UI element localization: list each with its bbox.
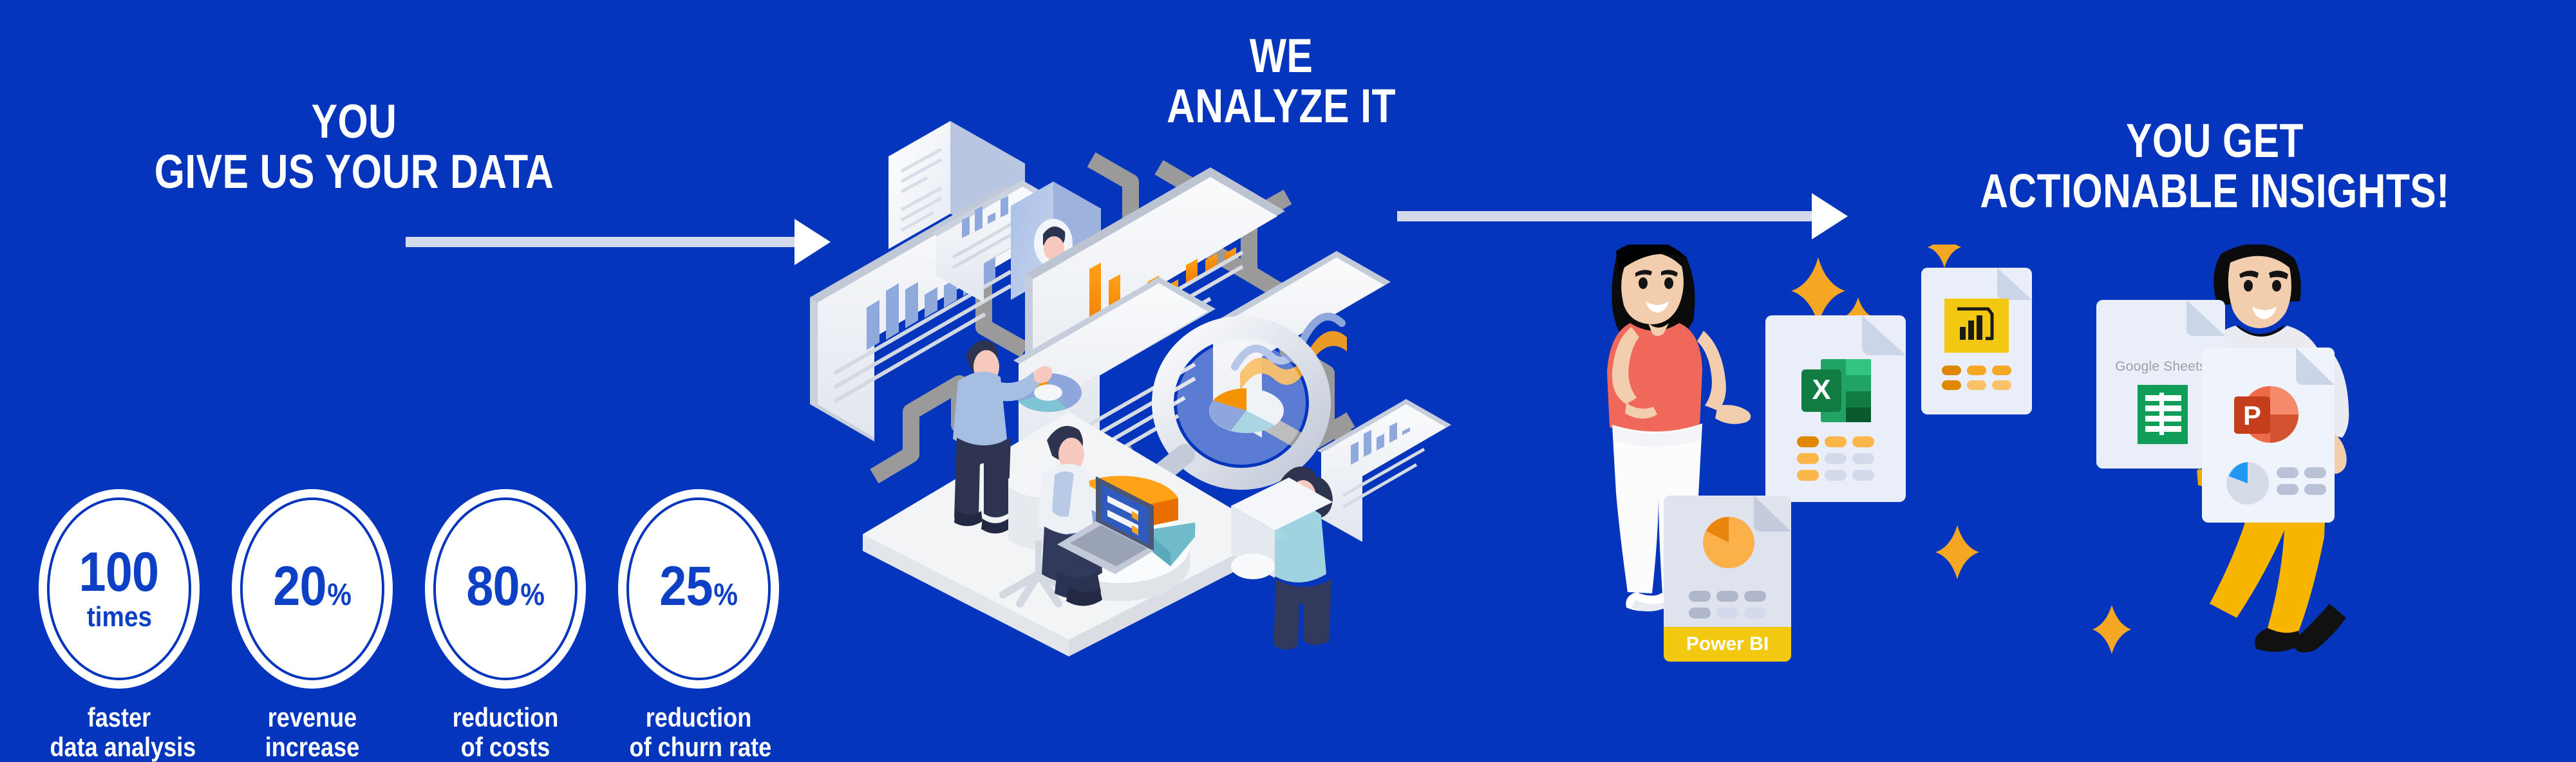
heading-left-line1: YOU	[64, 97, 644, 147]
stat-number-suffix: %	[328, 581, 352, 610]
data-cell	[1852, 470, 1874, 481]
data-cell	[1825, 453, 1847, 464]
powerbi-report-card[interactable]: Power BI	[1664, 496, 1791, 662]
stat-number-value: 100	[79, 546, 158, 599]
data-cell	[2304, 484, 2326, 495]
data-cell	[1744, 591, 1766, 602]
heading-right-line2: ACTIONABLE INSIGHTS!	[1919, 166, 2510, 216]
stat-caption: reduction of churn rate	[630, 703, 768, 762]
svg-text:P: P	[2243, 400, 2261, 431]
stat-card-20-percent: 20% revenue increase	[232, 489, 393, 762]
data-cell	[1942, 380, 1961, 390]
data-cell	[1689, 591, 1711, 602]
stat-caption-line1: revenue	[243, 703, 382, 732]
stat-caption-line2: data analysis	[50, 732, 189, 762]
data-cell	[1992, 380, 2011, 390]
google-sheets-icon	[2134, 382, 2192, 447]
data-cell	[1967, 380, 1986, 390]
powerbi-data-rows	[1921, 366, 2032, 390]
arrow-shaft	[1397, 211, 1814, 221]
heading-right-line1: YOU GET	[1919, 116, 2510, 166]
stat-badge: 100 times	[39, 489, 200, 689]
stat-caption-line2: increase	[243, 732, 382, 762]
stat-caption-line2: of churn rate	[630, 732, 768, 762]
powerpoint-data-rows	[2277, 467, 2326, 495]
excel-icon: X	[1798, 355, 1875, 426]
stat-caption: faster data analysis	[50, 703, 189, 762]
pie-chart-icon	[2224, 460, 2271, 507]
data-cell	[1797, 453, 1819, 464]
magnifying-glass-icon	[1145, 327, 1320, 487]
person-with-rolled-chart	[1231, 467, 1333, 650]
sparkle-icon	[1935, 525, 1979, 579]
data-cell	[1852, 436, 1874, 447]
stat-badge: 80%	[425, 489, 586, 689]
data-cell	[2277, 484, 2299, 495]
data-cell	[1716, 591, 1738, 602]
stat-unit: times	[86, 603, 151, 631]
stat-number: 20%	[274, 561, 352, 613]
excel-file-card[interactable]: X	[1765, 315, 1906, 502]
stat-caption: revenue increase	[243, 703, 382, 762]
sparkle-icon	[1791, 257, 1845, 324]
isometric-data-analysis-illustration	[798, 90, 1455, 656]
data-cell	[1825, 470, 1847, 481]
data-cell	[2277, 467, 2299, 478]
pie-chart-icon	[1700, 514, 1758, 571]
data-cell	[1689, 608, 1711, 618]
stats-row: 100 times faster data analysis 20% reven…	[39, 489, 798, 747]
stat-caption-line2: of costs	[437, 732, 575, 762]
stat-number-value: 80	[467, 561, 520, 613]
stat-number-value: 25	[660, 561, 713, 613]
stat-number-suffix: %	[714, 581, 738, 610]
data-cell	[1942, 366, 1961, 375]
data-cell	[1852, 453, 1874, 464]
svg-text:X: X	[1812, 374, 1830, 405]
stat-badge: 20%	[232, 489, 393, 689]
infographic-canvas: YOU GIVE US YOUR DATA WE ANALYZE IT YOU …	[0, 0, 2576, 752]
heading-give-us-your-data: YOU GIVE US YOUR DATA	[64, 97, 644, 198]
stat-badge: 25%	[618, 489, 779, 689]
stat-number: 25%	[660, 561, 738, 613]
arrow-data-to-analysis-icon	[406, 219, 831, 265]
data-cell	[1797, 470, 1819, 481]
data-cell	[1967, 366, 1986, 375]
arrow-analysis-to-insights-icon	[1397, 193, 1848, 239]
stat-card-80-percent: 80% reduction of costs	[425, 489, 586, 762]
stat-caption-line1: reduction	[437, 703, 575, 732]
powerbi-label: Power BI	[1664, 627, 1791, 662]
stat-card-100-times: 100 times faster data analysis	[39, 489, 200, 762]
sparkle-icon	[2092, 605, 2131, 654]
stat-number-suffix: %	[521, 581, 545, 610]
data-cell	[2304, 467, 2326, 478]
heading-center-line1: WE	[1096, 31, 1466, 81]
powerpoint-icon: P	[2229, 381, 2305, 448]
heading-actionable-insights: YOU GET ACTIONABLE INSIGHTS!	[1919, 116, 2510, 217]
stat-caption-line1: reduction	[630, 703, 768, 732]
powerpoint-card[interactable]: P	[2202, 348, 2335, 523]
stat-number-value: 20	[274, 561, 326, 613]
stat-caption: reduction of costs	[437, 703, 575, 762]
stat-card-25-percent: 25% reduction of churn rate	[618, 489, 779, 762]
stat-caption-line1: faster	[50, 703, 189, 732]
powerbi-icon-card[interactable]	[1921, 268, 2032, 414]
stat-number: 100	[79, 546, 159, 599]
insights-people-and-files: X	[1558, 245, 2575, 734]
data-cell	[1744, 608, 1766, 618]
heading-left-line2: GIVE US YOUR DATA	[64, 147, 644, 197]
arrow-head	[1812, 193, 1848, 239]
pie-chart-inside-lens	[1209, 388, 1284, 433]
power-bi-icon	[1944, 299, 2009, 353]
data-cell	[1825, 436, 1847, 447]
data-cell	[1797, 436, 1819, 447]
arrow-shaft	[406, 237, 797, 247]
sparkle-icon	[1928, 245, 1961, 268]
data-cell	[1716, 608, 1738, 618]
powerbi-report-data-rows	[1664, 591, 1791, 618]
data-cell	[1992, 366, 2011, 375]
stat-number: 80%	[467, 561, 545, 613]
excel-data-rows	[1765, 436, 1906, 481]
